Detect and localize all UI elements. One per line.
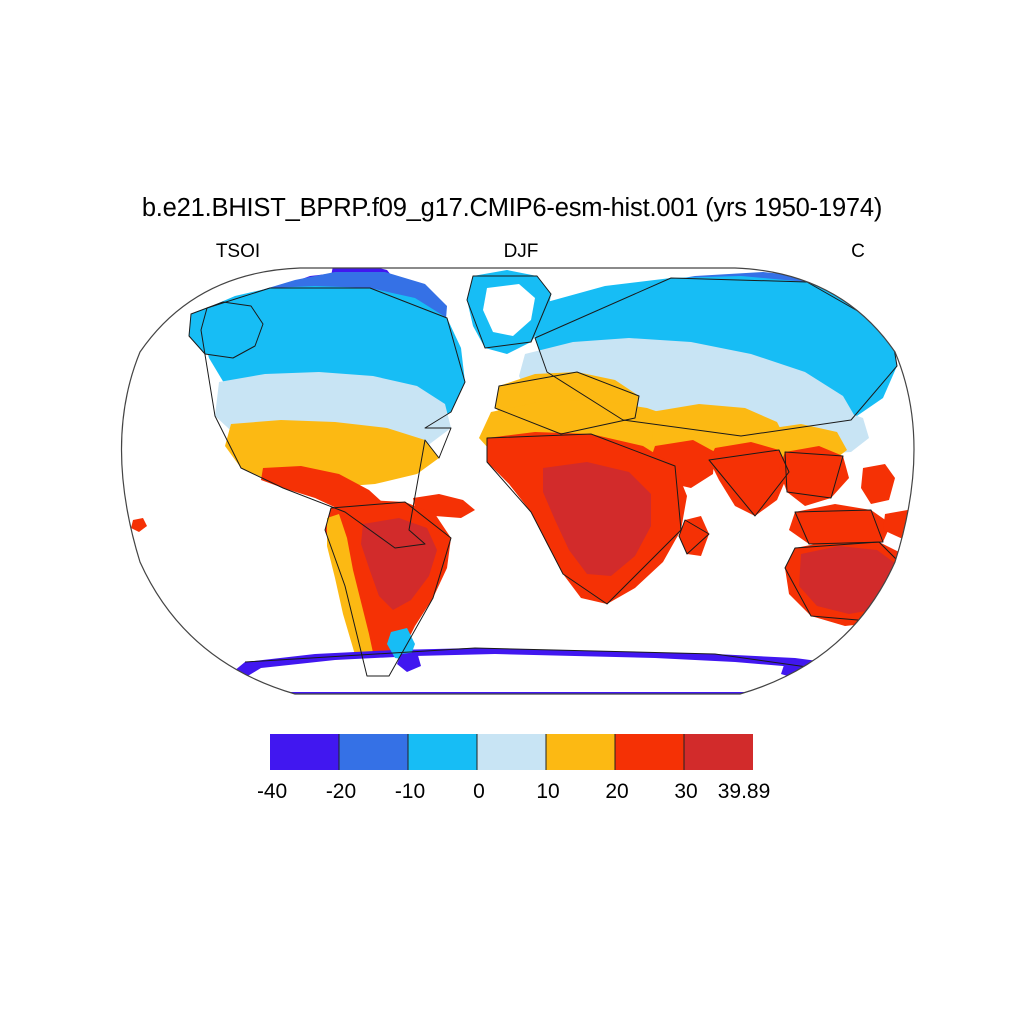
colorbar-tick-1: -20 bbox=[326, 780, 356, 803]
colorbar-tick-7: 39.89 bbox=[718, 780, 771, 803]
colorbar-swatches[interactable] bbox=[270, 734, 753, 770]
fill-pacific-island-b bbox=[919, 550, 935, 566]
colorbar-svg[interactable]: -40 -20 -10 0 10 20 30 39.89 bbox=[258, 728, 778, 808]
colorbar-band-6[interactable] bbox=[684, 734, 753, 770]
fill-new-zealand bbox=[919, 592, 935, 646]
fill-tasmania bbox=[849, 626, 873, 648]
colorbar-tick-3: 0 bbox=[473, 780, 485, 803]
colorbar-tick-6: 30 bbox=[674, 780, 697, 803]
colorbar-band-4[interactable] bbox=[546, 734, 615, 770]
colorbar-tick-0: -40 bbox=[258, 780, 287, 803]
colorbar[interactable]: -40 -20 -10 0 10 20 30 39.89 bbox=[258, 728, 778, 808]
colorbar-tick-4: 10 bbox=[536, 780, 559, 803]
season-label: DJF bbox=[441, 240, 601, 264]
colorbar-band-5[interactable] bbox=[615, 734, 684, 770]
colorbar-band-3[interactable] bbox=[477, 734, 546, 770]
variable-label: TSOI bbox=[158, 240, 318, 264]
colorbar-band-1[interactable] bbox=[339, 734, 408, 770]
map-fill-group bbox=[95, 262, 935, 702]
colorbar-band-0[interactable] bbox=[270, 734, 339, 770]
subtitle-row: TSOI DJF C bbox=[108, 240, 934, 264]
colorbar-tick-5: 20 bbox=[605, 780, 628, 803]
units-label: C bbox=[778, 240, 938, 264]
world-map-svg bbox=[95, 262, 935, 702]
fill-antarctica-fringe-b bbox=[781, 660, 855, 684]
figure-title: b.e21.BHIST_BPRP.f09_g17.CMIP6-esm-hist.… bbox=[0, 193, 1024, 223]
climate-map-figure: b.e21.BHIST_BPRP.f09_g17.CMIP6-esm-hist.… bbox=[0, 0, 1024, 1024]
colorbar-tick-labels: -40 -20 -10 0 10 20 30 39.89 bbox=[258, 780, 770, 803]
colorbar-tick-2: -10 bbox=[395, 780, 425, 803]
map-plot-area bbox=[95, 262, 935, 702]
colorbar-band-2[interactable] bbox=[408, 734, 477, 770]
